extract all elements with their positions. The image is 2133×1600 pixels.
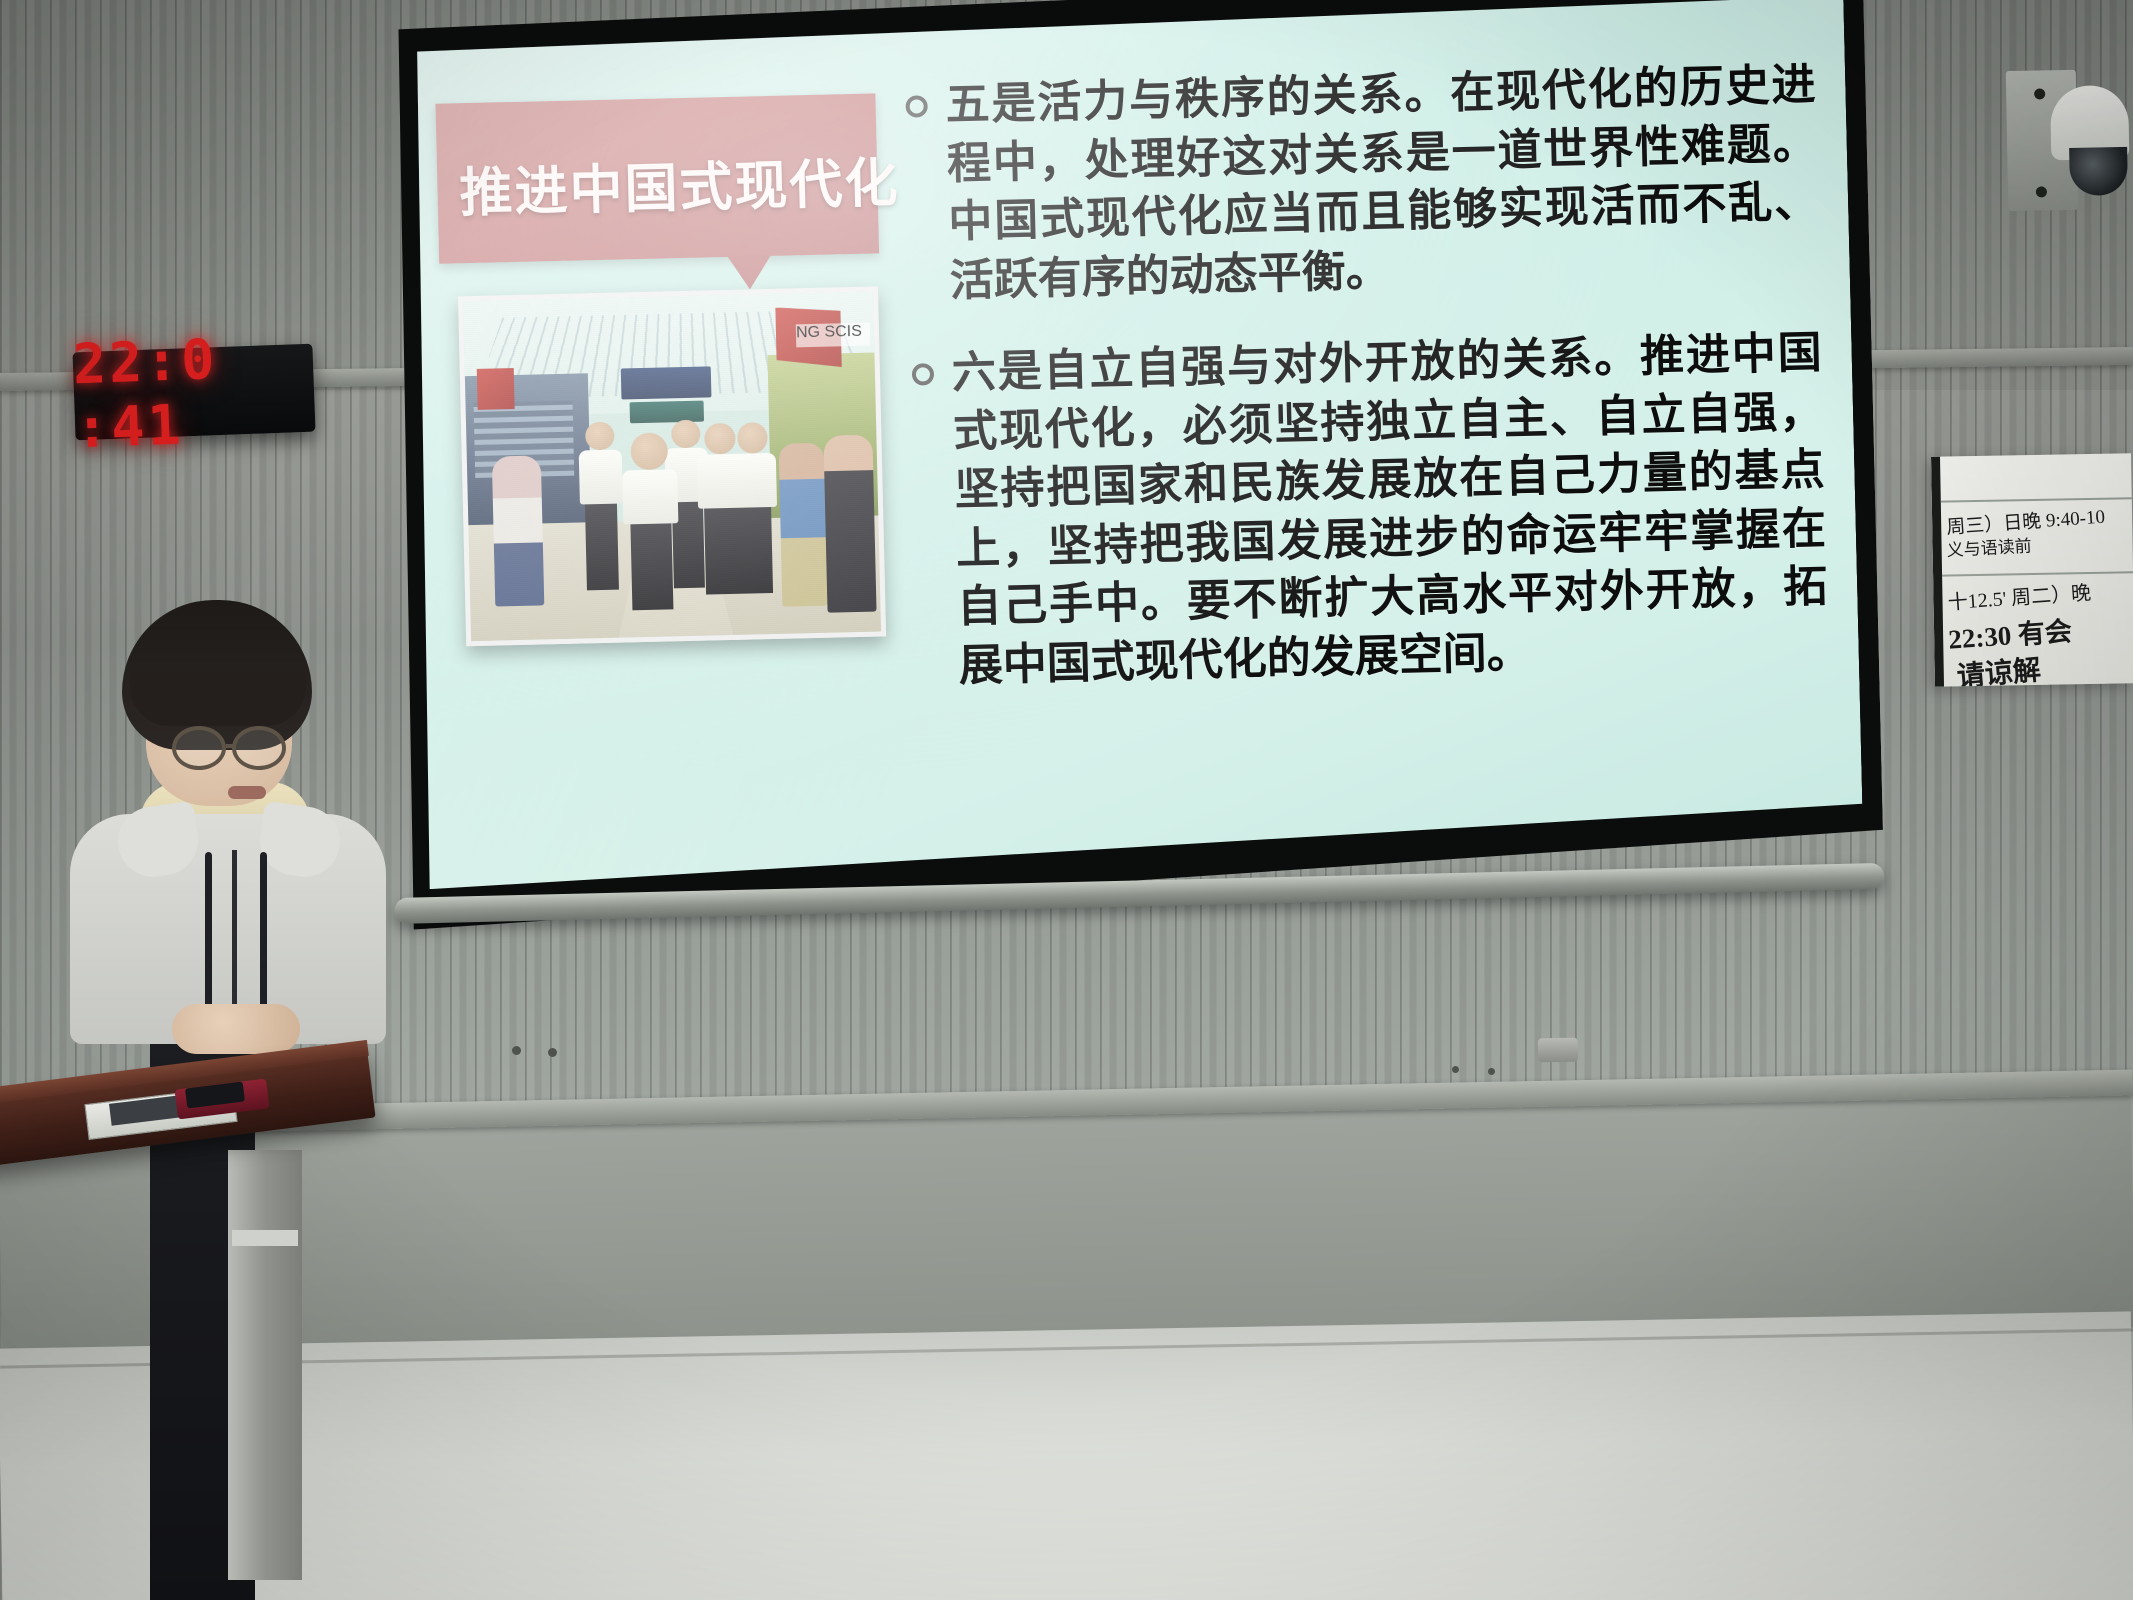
presenter-hair	[122, 600, 312, 750]
circle-outline-bullet-icon	[912, 363, 935, 386]
screen-surface: 推进中国式现代化 NG SCIS	[404, 0, 1864, 889]
camera-screw	[2036, 186, 2047, 197]
clock-digits: 22:0 :41	[72, 324, 317, 461]
slide-bullet-list: 五是活力与秩序的关系。在现代化的历史进程中，处理好这对关系是一道世界性难题。中国…	[905, 56, 1830, 730]
eyeglasses-icon	[172, 726, 226, 770]
lectern-shelf	[232, 1230, 298, 1246]
student-presenter	[60, 600, 390, 1030]
projection-screen: 推进中国式现代化 NG SCIS	[383, 0, 1884, 930]
screen-wall-bracket	[1538, 1038, 1578, 1063]
photo-grain-overlay	[463, 292, 881, 642]
wall-fitting-dot	[1488, 1068, 1495, 1075]
slide-bullet-text: 五是活力与秩序的关系。在现代化的历史进程中，处理好这对关系是一道世界性难题。中国…	[945, 56, 1820, 310]
wall-fitting-dot	[1452, 1066, 1459, 1073]
wall-fitting-dot	[548, 1048, 557, 1057]
wall-digital-clock: 22:0 :41	[72, 344, 315, 441]
presenter-mouth	[228, 786, 266, 799]
camera-lens-dome	[2069, 147, 2128, 196]
classroom-scene: 22:0 :41 周三）日晚 9:40-10 义与语读前 十12.5' 周二）晚…	[0, 0, 2133, 1600]
slide-photo: NG SCIS	[458, 286, 886, 646]
right-wall-whiteboard: 周三）日晚 9:40-10 义与语读前 十12.5' 周二）晚 22:30 有会…	[1931, 453, 2133, 686]
eyeglasses-bridge	[226, 744, 234, 748]
floor	[0, 1311, 2133, 1600]
wall-fitting-dot	[512, 1046, 521, 1055]
slide-title-banner: 推进中国式现代化	[435, 93, 879, 263]
whiteboard-rule	[1942, 571, 2133, 576]
slide-title-banner-tail	[727, 255, 772, 290]
presentation-slide: 推进中国式现代化 NG SCIS	[404, 0, 1864, 889]
whiteboard-note-line: 请谅解	[1955, 648, 2042, 687]
presenter-hands	[172, 1004, 300, 1054]
ceiling-security-camera-icon	[2006, 69, 2126, 211]
lectern-support-leg	[228, 1150, 302, 1580]
circle-outline-bullet-icon	[905, 95, 928, 118]
slide-bullet-item: 五是活力与秩序的关系。在现代化的历史进程中，处理好这对关系是一道世界性难题。中国…	[905, 56, 1820, 311]
whiteboard-rule	[1941, 497, 2133, 502]
slide-bullet-item: 六是自立自强与对外开放的关系。推进中国式现代化，必须坚持独立自主、自立自强，坚持…	[911, 324, 1829, 696]
eyeglasses-icon	[232, 726, 286, 770]
camera-screw	[2034, 88, 2045, 99]
slide-bullet-text: 六是自立自强与对外开放的关系。推进中国式现代化，必须坚持独立自主、自立自强，坚持…	[951, 324, 1829, 695]
slide-title: 推进中国式现代化	[459, 142, 861, 227]
whiteboard-note-line: 义与语读前	[1946, 532, 2032, 561]
